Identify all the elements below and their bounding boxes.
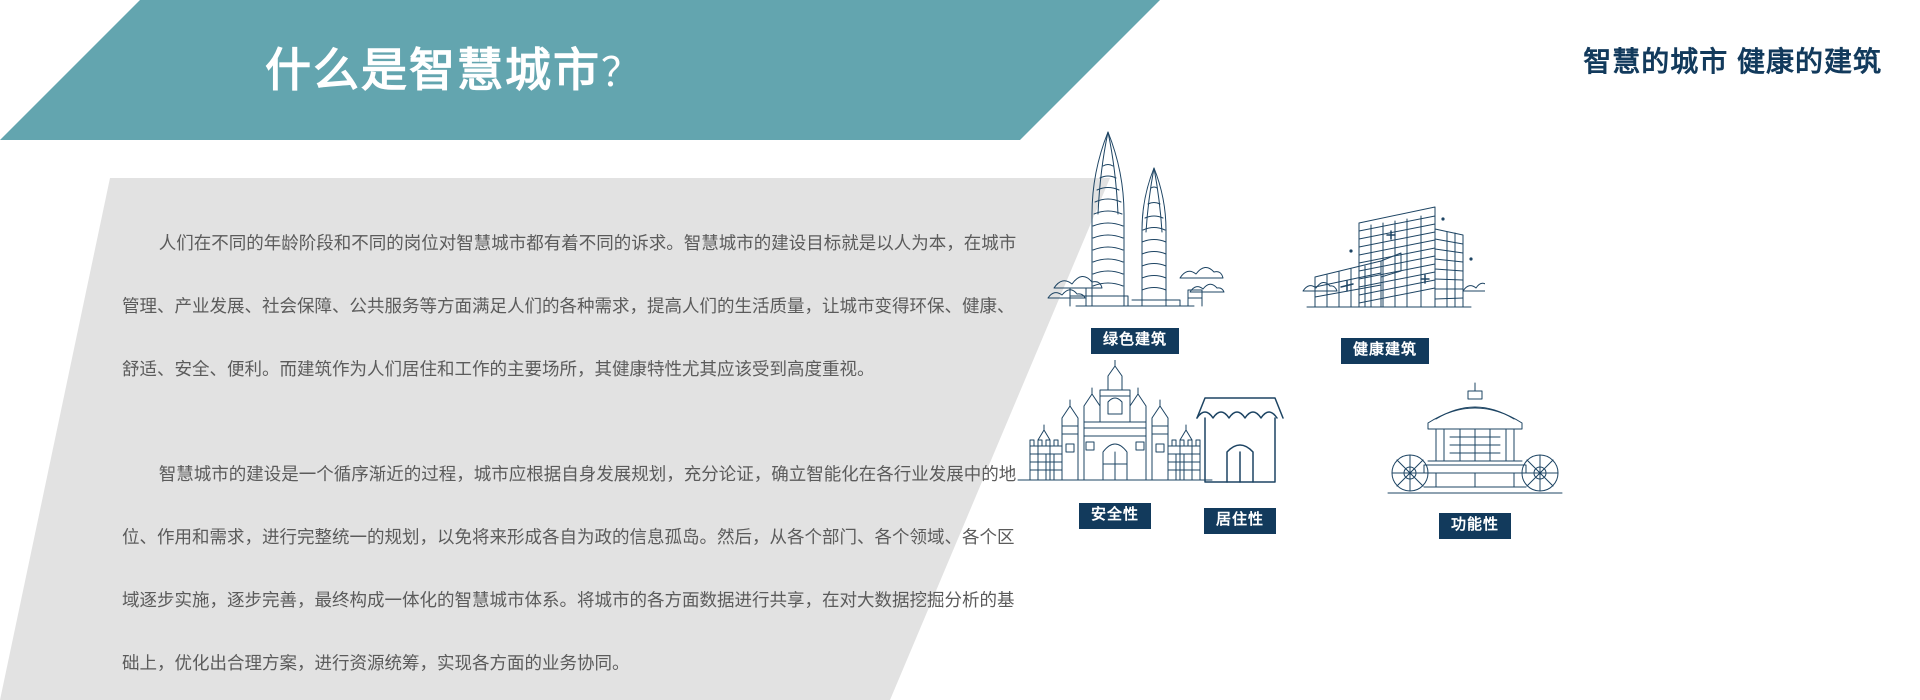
illustration-green-building: 绿色建筑 — [1030, 110, 1240, 354]
header-banner: 什么是智慧城市？ — [0, 0, 1160, 140]
page-title-question-mark: ？ — [601, 51, 643, 95]
label-safety: 安全性 — [1079, 503, 1151, 529]
paragraph-1-text: 人们在不同的年龄阶段和不同的岗位对智慧城市都有着不同的诉求。智慧城市的建设目标就… — [122, 233, 1016, 379]
house-icon — [1175, 370, 1305, 500]
hospital-building-icon — [1285, 195, 1485, 330]
illustration-livability: 居住性 — [1175, 370, 1305, 534]
paragraph-2-text: 智慧城市的建设是一个循序渐近的过程，城市应根据自身发展规划，充分论证，确立智能化… — [122, 464, 1016, 673]
page-title: 什么是智慧城市？ — [265, 47, 643, 93]
illustration-functionality: 功能性 — [1380, 375, 1570, 539]
pavilion-icon — [1380, 375, 1570, 505]
header-tagline: 智慧的城市 健康的建筑 — [1583, 40, 1882, 80]
illustration-group: 绿色建筑 — [1030, 110, 1920, 690]
slide-page: 什么是智慧城市？ 智慧的城市 健康的建筑 人们在不同的年龄阶段和不同的岗位对智慧… — [0, 0, 1920, 700]
label-livability: 居住性 — [1204, 508, 1276, 534]
body-copy: 人们在不同的年龄阶段和不同的岗位对智慧城市都有着不同的诉求。智慧城市的建设目标就… — [122, 212, 1022, 695]
label-green-building: 绿色建筑 — [1091, 328, 1179, 354]
label-health-building: 健康建筑 — [1341, 338, 1429, 364]
twisted-towers-icon — [1030, 110, 1240, 320]
label-functionality: 功能性 — [1439, 513, 1511, 539]
illustration-health-building: 健康建筑 — [1285, 195, 1485, 364]
paragraph-1: 人们在不同的年龄阶段和不同的岗位对智慧城市都有着不同的诉求。智慧城市的建设目标就… — [122, 212, 1022, 401]
page-title-text: 什么是智慧城市 — [265, 44, 601, 96]
paragraph-2: 智慧城市的建设是一个循序渐近的过程，城市应根据自身发展规划，充分论证，确立智能化… — [122, 443, 1022, 695]
